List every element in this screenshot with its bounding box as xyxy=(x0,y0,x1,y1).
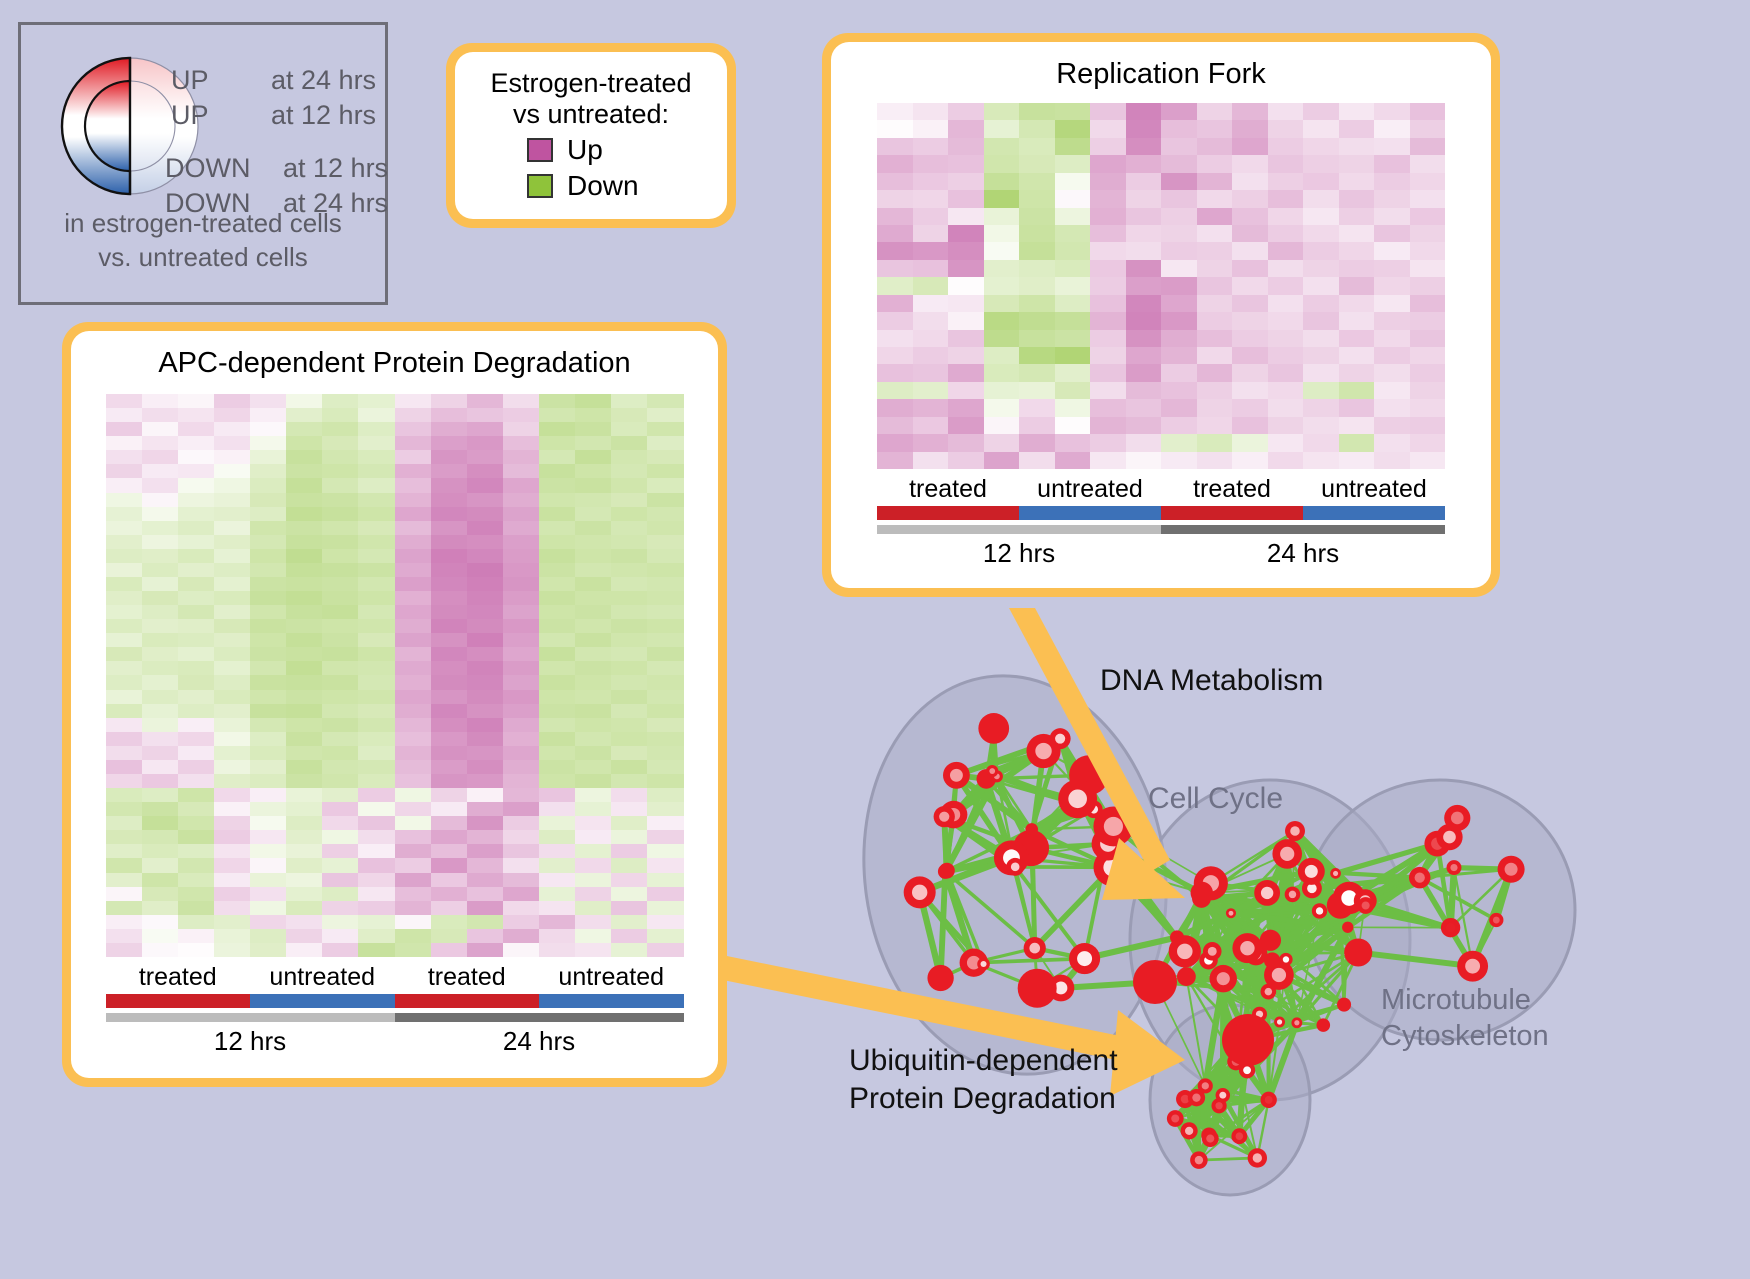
heatmap-cell xyxy=(1055,399,1091,416)
heatmap-cell xyxy=(575,915,611,929)
heatmap-cell xyxy=(142,422,178,436)
heatmap-cell xyxy=(575,493,611,507)
heatmap-cell xyxy=(1339,138,1375,155)
heatmap-cell xyxy=(539,394,575,408)
key-time-up-24: at 24 hrs xyxy=(271,65,376,96)
heatmap-cell xyxy=(214,633,250,647)
heatmap-cell xyxy=(142,591,178,605)
heatmap-cell xyxy=(647,732,683,746)
network-node-core xyxy=(1505,863,1518,876)
heatmap-cell xyxy=(106,901,142,915)
heatmap-cell xyxy=(539,661,575,675)
heatmap-cell xyxy=(106,436,142,450)
network-node xyxy=(1337,998,1351,1012)
network-node-core xyxy=(1103,858,1121,876)
heatmap-cell xyxy=(913,452,949,469)
heatmap-cell xyxy=(1232,138,1268,155)
heatmap-cell xyxy=(1161,120,1197,137)
heatmap-cell xyxy=(395,915,431,929)
heatmap-cell xyxy=(142,394,178,408)
heatmap-cell xyxy=(358,394,394,408)
heatmap-cell xyxy=(984,295,1020,312)
heatmap-cell xyxy=(503,563,539,577)
network-node-core xyxy=(1290,826,1300,836)
heatmap-cell xyxy=(142,816,178,830)
heatmap-cell xyxy=(358,605,394,619)
heatmap-cell xyxy=(178,760,214,774)
heatmap-cell xyxy=(1090,120,1126,137)
heatmap-cell xyxy=(913,260,949,277)
heatmap-cell xyxy=(286,887,322,901)
heatmap-cell xyxy=(984,417,1020,434)
heatmap-cell xyxy=(1303,138,1339,155)
heatmap-cell xyxy=(647,521,683,535)
heatmap-cell xyxy=(1090,364,1126,381)
heatmap-cell xyxy=(178,943,214,957)
heatmap-cell xyxy=(178,816,214,830)
heatmap-cell xyxy=(250,619,286,633)
heatmap-cell xyxy=(178,450,214,464)
heatmap-cell xyxy=(1303,190,1339,207)
heatmap-cell xyxy=(142,464,178,478)
heatmap-cell xyxy=(178,774,214,788)
heatmap-cell xyxy=(250,718,286,732)
heatmap-cell xyxy=(358,718,394,732)
heatmap-cell xyxy=(984,364,1020,381)
heatmap-cell xyxy=(214,507,250,521)
time-bar-segment xyxy=(106,1013,395,1022)
heatmap-cell xyxy=(250,816,286,830)
heatmap-cell xyxy=(1339,103,1375,120)
heatmap-cell xyxy=(948,330,984,347)
heatmap-cell xyxy=(1161,242,1197,259)
heatmap-cell xyxy=(467,774,503,788)
heatmap-cell xyxy=(1268,138,1304,155)
heatmap-cell xyxy=(1339,347,1375,364)
heatmap-cell xyxy=(1197,434,1233,451)
heatmap-cell xyxy=(431,943,467,957)
heatmap-cell xyxy=(1303,312,1339,329)
heatmap-cell xyxy=(611,746,647,760)
heatmap-cell xyxy=(358,943,394,957)
heatmap-cell xyxy=(431,788,467,802)
heatmap-cell xyxy=(539,760,575,774)
heatmap-cell xyxy=(1055,330,1091,347)
heatmap-cell xyxy=(214,858,250,872)
heatmap-cell xyxy=(611,690,647,704)
heatmap-cell xyxy=(467,521,503,535)
legend-label-down: Down xyxy=(567,170,639,202)
heatmap-cell xyxy=(1374,347,1410,364)
heatmap-cell xyxy=(178,718,214,732)
heatmap-cell xyxy=(1374,155,1410,172)
heatmap-cell xyxy=(1197,364,1233,381)
heatmap-cell xyxy=(1197,312,1233,329)
heatmap-cell xyxy=(467,816,503,830)
heatmap-cell xyxy=(214,591,250,605)
heatmap-cell xyxy=(1303,120,1339,137)
heatmap-cell xyxy=(1019,347,1055,364)
heatmap-cell xyxy=(877,208,913,225)
heatmap-cell xyxy=(322,408,358,422)
heatmap-cell xyxy=(611,507,647,521)
network-node-core xyxy=(1208,947,1217,956)
heatmap-cell xyxy=(358,619,394,633)
heatmap-cell xyxy=(106,633,142,647)
heatmap-cell xyxy=(1374,312,1410,329)
heatmap-cell xyxy=(877,434,913,451)
heatmap-cell xyxy=(358,802,394,816)
heatmap-cell xyxy=(984,225,1020,242)
network-node-core xyxy=(950,769,963,782)
heatmap-cell xyxy=(539,887,575,901)
network-node-core xyxy=(939,812,949,822)
heatmap-cell xyxy=(1339,190,1375,207)
heatmap-cell xyxy=(178,887,214,901)
heatmap-cell xyxy=(877,155,913,172)
heatmap-cell xyxy=(1410,399,1446,416)
heatmap-cell xyxy=(358,830,394,844)
heatmap-cell xyxy=(467,605,503,619)
heatmap-cell xyxy=(142,774,178,788)
heatmap-cell xyxy=(611,633,647,647)
heatmap-cell xyxy=(322,563,358,577)
heatmap-cell xyxy=(647,844,683,858)
heatmap-cell xyxy=(178,464,214,478)
heatmap-cell xyxy=(575,943,611,957)
heatmap-cell xyxy=(1339,225,1375,242)
heatmap-cell xyxy=(877,120,913,137)
heatmap-cell xyxy=(1303,103,1339,120)
heatmap-cell xyxy=(913,225,949,242)
heatmap-cell xyxy=(1126,312,1162,329)
heatmap-cell xyxy=(178,521,214,535)
heatmap-cell xyxy=(467,675,503,689)
heatmap-cell xyxy=(913,155,949,172)
heatmap-cell xyxy=(1055,155,1091,172)
heatmap-cell xyxy=(1019,120,1055,137)
heatmap-cell xyxy=(1197,208,1233,225)
heatmap-cell xyxy=(322,929,358,943)
network-node-core xyxy=(1283,956,1289,962)
heatmap-cell xyxy=(611,901,647,915)
heatmap-cell xyxy=(286,493,322,507)
heatmap-cell xyxy=(1197,399,1233,416)
heatmap-cell xyxy=(322,732,358,746)
heatmap-cell xyxy=(539,690,575,704)
heatmap-cell xyxy=(611,436,647,450)
heatmap-cell xyxy=(948,208,984,225)
heatmap-cell xyxy=(286,464,322,478)
heatmap-cell xyxy=(539,675,575,689)
network-node xyxy=(1342,922,1353,933)
apc-condition-bar xyxy=(106,994,684,1008)
network-node-core xyxy=(1240,941,1254,955)
heatmap-cell xyxy=(539,577,575,591)
heatmap-cell xyxy=(142,563,178,577)
heatmap-cell xyxy=(214,450,250,464)
heatmap-cell xyxy=(431,493,467,507)
heatmap-cell xyxy=(395,535,431,549)
heatmap-cell xyxy=(358,633,394,647)
heatmap-cell xyxy=(503,830,539,844)
heatmap-cell xyxy=(431,394,467,408)
heatmap-cell xyxy=(1019,399,1055,416)
heatmap-cell xyxy=(250,577,286,591)
heatmap-cell xyxy=(214,746,250,760)
replication-fork-heatmap xyxy=(877,103,1445,469)
heatmap-cell xyxy=(214,732,250,746)
heatmap-cell xyxy=(1232,330,1268,347)
heatmap-cell xyxy=(503,493,539,507)
heatmap-cell xyxy=(106,802,142,816)
heatmap-cell xyxy=(503,788,539,802)
heatmap-cell xyxy=(214,394,250,408)
heatmap-cell xyxy=(322,901,358,915)
heatmap-cell xyxy=(1197,120,1233,137)
heatmap-cell xyxy=(431,605,467,619)
heatmap-cell xyxy=(948,120,984,137)
heatmap-cell xyxy=(1232,434,1268,451)
heatmap-cell xyxy=(611,478,647,492)
heatmap-cell xyxy=(467,690,503,704)
heatmap-cell xyxy=(286,704,322,718)
heatmap-cell xyxy=(539,915,575,929)
heatmap-cell xyxy=(1232,452,1268,469)
condition-label: treated xyxy=(1161,475,1303,504)
heatmap-cell xyxy=(611,718,647,732)
heatmap-cell xyxy=(395,633,431,647)
heatmap-cell xyxy=(142,549,178,563)
heatmap-cell xyxy=(1126,138,1162,155)
heatmap-cell xyxy=(984,208,1020,225)
heatmap-cell xyxy=(539,478,575,492)
heatmap-cell xyxy=(647,661,683,675)
heatmap-cell xyxy=(178,394,214,408)
heatmap-cell xyxy=(647,915,683,929)
heatmap-cell xyxy=(142,788,178,802)
heatmap-cell xyxy=(358,549,394,563)
heatmap-cell xyxy=(1410,277,1446,294)
heatmap-cell xyxy=(214,605,250,619)
heatmap-cell xyxy=(647,746,683,760)
heatmap-cell xyxy=(503,760,539,774)
heatmap-cell xyxy=(214,675,250,689)
network-node-core xyxy=(1195,1156,1203,1164)
condition-bar-segment xyxy=(106,994,251,1008)
heatmap-cell xyxy=(948,382,984,399)
heatmap-cell xyxy=(467,619,503,633)
heatmap-cell xyxy=(575,436,611,450)
heatmap-cell xyxy=(431,436,467,450)
heatmap-cell xyxy=(467,647,503,661)
heatmap-cell xyxy=(395,478,431,492)
heatmap-cell xyxy=(611,760,647,774)
heatmap-cell xyxy=(1090,417,1126,434)
heatmap-cell xyxy=(1055,295,1091,312)
heatmap-cell xyxy=(611,788,647,802)
heatmap-cell xyxy=(539,774,575,788)
heatmap-cell xyxy=(647,690,683,704)
heatmap-cell xyxy=(1126,242,1162,259)
heatmap-cell xyxy=(142,844,178,858)
heatmap-cell xyxy=(431,478,467,492)
heatmap-cell xyxy=(431,802,467,816)
heatmap-cell xyxy=(575,633,611,647)
heatmap-cell xyxy=(1090,312,1126,329)
heatmap-cell xyxy=(913,417,949,434)
heatmap-cell xyxy=(250,464,286,478)
heatmap-cell xyxy=(539,802,575,816)
heatmap-cell xyxy=(395,774,431,788)
legend-panel-inner: Estrogen-treated vs untreated: Up Down xyxy=(455,52,727,219)
heatmap-cell xyxy=(1161,103,1197,120)
heatmap-cell xyxy=(467,633,503,647)
heatmap-cell xyxy=(395,788,431,802)
heatmap-cell xyxy=(647,549,683,563)
heatmap-cell xyxy=(1055,225,1091,242)
heatmap-cell xyxy=(948,399,984,416)
heatmap-cell xyxy=(1055,103,1091,120)
heatmap-cell xyxy=(575,760,611,774)
heatmap-cell xyxy=(106,830,142,844)
network-node xyxy=(1222,1014,1274,1066)
heatmap-cell xyxy=(214,788,250,802)
heatmap-cell xyxy=(250,521,286,535)
heatmap-cell xyxy=(611,464,647,478)
heatmap-cell xyxy=(395,591,431,605)
heatmap-cell xyxy=(1410,330,1446,347)
heatmap-cell xyxy=(358,507,394,521)
condition-bar-segment xyxy=(1303,506,1445,520)
apc-time-labels: 12 hrs24 hrs xyxy=(106,1026,684,1057)
heatmap-cell xyxy=(984,312,1020,329)
heatmap-cell xyxy=(1019,190,1055,207)
heatmap-cell xyxy=(539,830,575,844)
heatmap-cell xyxy=(431,718,467,732)
heatmap-cell xyxy=(467,577,503,591)
heatmap-cell xyxy=(322,619,358,633)
heatmap-cell xyxy=(611,394,647,408)
heatmap-cell xyxy=(250,915,286,929)
heatmap-cell xyxy=(358,788,394,802)
heatmap-cell xyxy=(214,929,250,943)
network-node-core xyxy=(1333,871,1338,876)
heatmap-cell xyxy=(1055,120,1091,137)
heatmap-cell xyxy=(322,549,358,563)
heatmap-cell xyxy=(358,478,394,492)
heatmap-cell xyxy=(106,464,142,478)
heatmap-cell xyxy=(503,746,539,760)
heatmap-cell xyxy=(142,633,178,647)
heatmap-cell xyxy=(467,661,503,675)
heatmap-cell xyxy=(322,535,358,549)
heatmap-cell xyxy=(948,347,984,364)
heatmap-cell xyxy=(322,774,358,788)
heatmap-cell xyxy=(1090,330,1126,347)
heatmap-cell xyxy=(503,943,539,957)
heatmap-cell xyxy=(575,830,611,844)
heatmap-cell xyxy=(467,746,503,760)
network-node-core xyxy=(1243,1066,1251,1074)
heatmap-cell xyxy=(1303,417,1339,434)
heatmap-cell xyxy=(611,732,647,746)
heatmap-cell xyxy=(1197,173,1233,190)
heatmap-cell xyxy=(984,330,1020,347)
heatmap-cell xyxy=(250,943,286,957)
network-node-core xyxy=(1029,943,1040,954)
heatmap-cell xyxy=(1410,295,1446,312)
heatmap-cell xyxy=(358,915,394,929)
network-node xyxy=(978,713,1009,744)
heatmap-cell xyxy=(214,816,250,830)
heatmap-cell xyxy=(178,619,214,633)
heatmap-cell xyxy=(178,844,214,858)
heatmap-cell xyxy=(1090,295,1126,312)
heatmap-cell xyxy=(575,591,611,605)
heatmap-cell xyxy=(322,873,358,887)
heatmap-cell xyxy=(322,844,358,858)
heatmap-cell xyxy=(503,408,539,422)
heatmap-cell xyxy=(1374,190,1410,207)
heatmap-cell xyxy=(467,802,503,816)
heatmap-cell xyxy=(877,225,913,242)
apc-condition-labels: treateduntreatedtreateduntreated xyxy=(106,963,684,992)
heatmap-cell xyxy=(178,858,214,872)
heatmap-cell xyxy=(1055,312,1091,329)
heatmap-cell xyxy=(503,844,539,858)
network-node-core xyxy=(1185,1127,1193,1135)
heatmap-cell xyxy=(575,535,611,549)
heatmap-cell xyxy=(395,901,431,915)
heatmap-cell xyxy=(1374,399,1410,416)
heatmap-cell xyxy=(106,521,142,535)
heatmap-cell xyxy=(503,858,539,872)
heatmap-cell xyxy=(250,661,286,675)
heatmap-cell xyxy=(1232,120,1268,137)
heatmap-cell xyxy=(1090,260,1126,277)
heatmap-cell xyxy=(1374,364,1410,381)
heatmap-cell xyxy=(539,619,575,633)
condition-bar-segment xyxy=(877,506,1019,520)
heatmap-cell xyxy=(1019,225,1055,242)
network-node-core xyxy=(1450,864,1457,871)
heatmap-cell xyxy=(1339,330,1375,347)
heatmap-cell xyxy=(1055,417,1091,434)
heatmap-cell xyxy=(1090,138,1126,155)
heatmap-cell xyxy=(178,901,214,915)
replication-fork-heatmap-wrap: treateduntreatedtreateduntreated 12 hrs2… xyxy=(877,103,1445,569)
heatmap-cell xyxy=(395,563,431,577)
time-bar-segment xyxy=(1161,525,1445,534)
heatmap-cell xyxy=(250,887,286,901)
heatmap-cell xyxy=(395,690,431,704)
heatmap-cell xyxy=(913,382,949,399)
network-node-core xyxy=(1219,1092,1226,1099)
heatmap-cell xyxy=(286,521,322,535)
heatmap-cell xyxy=(877,417,913,434)
heatmap-cell xyxy=(503,521,539,535)
heatmap-cell xyxy=(575,774,611,788)
heatmap-cell xyxy=(1019,208,1055,225)
heatmap-cell xyxy=(1232,225,1268,242)
heatmap-cell xyxy=(1090,242,1126,259)
heatmap-cell xyxy=(286,844,322,858)
heatmap-cell xyxy=(1232,277,1268,294)
cluster-label-dna-metabolism: DNA Metabolism xyxy=(1100,664,1323,698)
heatmap-cell xyxy=(1303,347,1339,364)
heatmap-cell xyxy=(1410,434,1446,451)
